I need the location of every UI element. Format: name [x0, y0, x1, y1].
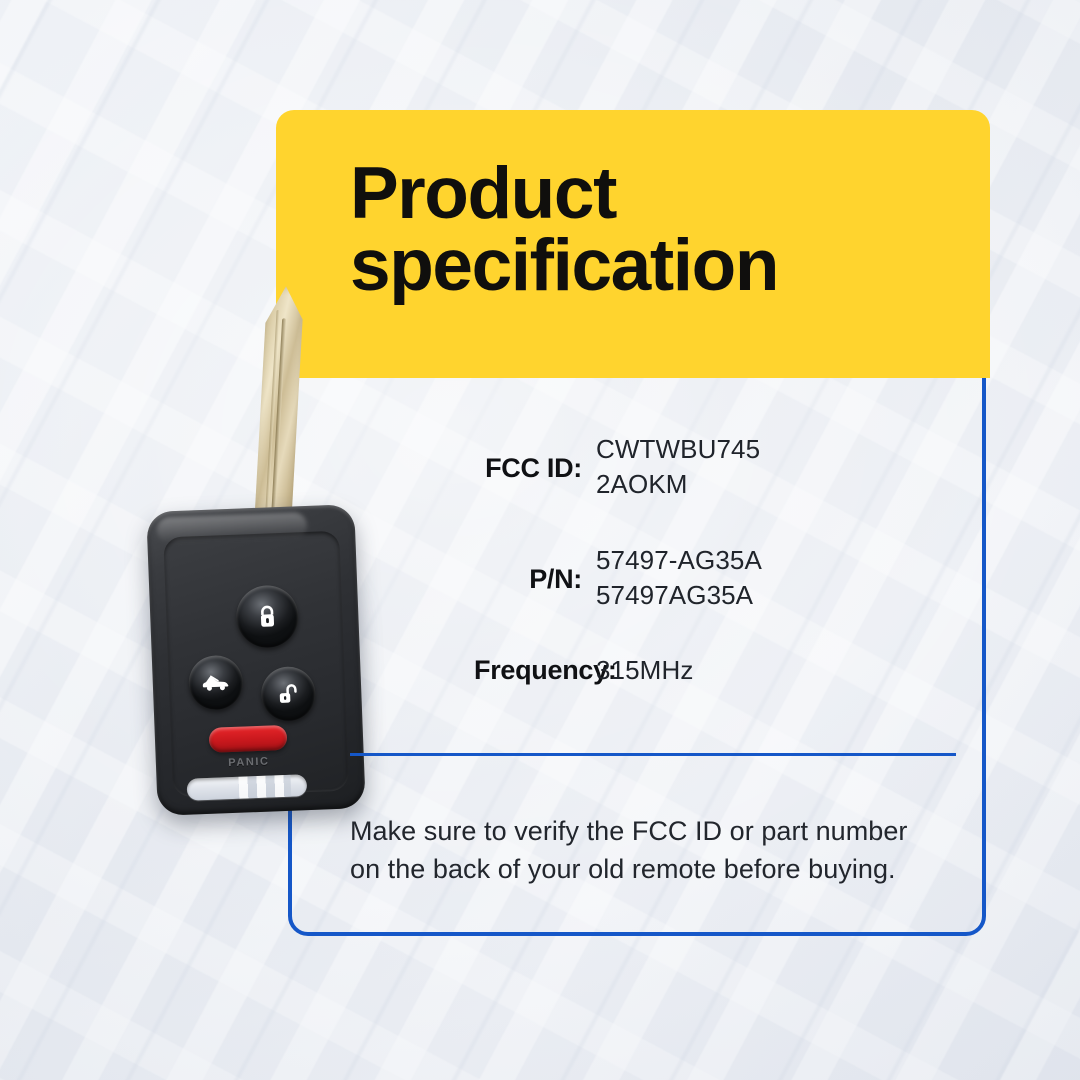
spec-value-part-number-line2: 57497AG35A	[596, 578, 944, 613]
specification-list: FCC ID: CWTWBU745 2AOKM P/N: 57497-AG35A…	[474, 432, 944, 689]
spec-value-frequency: 315MHz	[596, 653, 944, 688]
key-fob-image: PANIC	[138, 286, 388, 846]
spec-value-fcc-id: CWTWBU745 2AOKM	[596, 432, 944, 503]
spec-value-fcc-id-line1: CWTWBU745	[596, 432, 944, 467]
spec-label-part-number: P/N:	[474, 543, 596, 598]
page-title-line2: specification	[350, 230, 970, 302]
spec-label-frequency: Frequency:	[474, 653, 596, 689]
page-title-line1: Product	[350, 153, 616, 234]
spec-value-fcc-id-line2: 2AOKM	[596, 467, 944, 502]
spec-label-fcc-id: FCC ID:	[474, 432, 596, 487]
spec-value-part-number: 57497-AG35A 57497AG35A	[596, 543, 944, 614]
page-title: Product specification	[350, 158, 970, 303]
panic-button[interactable]	[209, 725, 288, 753]
spec-value-part-number-line1: 57497-AG35A	[596, 543, 944, 578]
closed-padlock-icon	[257, 604, 278, 629]
spec-value-frequency-line1: 315MHz	[596, 653, 944, 688]
spec-row-part-number: P/N: 57497-AG35A 57497AG35A	[474, 543, 944, 614]
section-divider	[350, 753, 956, 756]
verification-note-line2: on the back of your old remote before bu…	[350, 850, 960, 888]
verification-note: Make sure to verify the FCC ID or part n…	[350, 812, 960, 889]
key-ring-slot	[187, 774, 308, 801]
key-fob-body: PANIC	[146, 504, 366, 816]
spec-row-frequency: Frequency: 315MHz	[474, 653, 944, 689]
verification-note-line1: Make sure to verify the FCC ID or part n…	[350, 816, 907, 846]
open-padlock-icon	[277, 682, 300, 705]
car-trunk-open-icon	[202, 673, 231, 692]
product-specification-card: Product specification	[0, 0, 1080, 1080]
spec-row-fcc-id: FCC ID: CWTWBU745 2AOKM	[474, 432, 944, 503]
